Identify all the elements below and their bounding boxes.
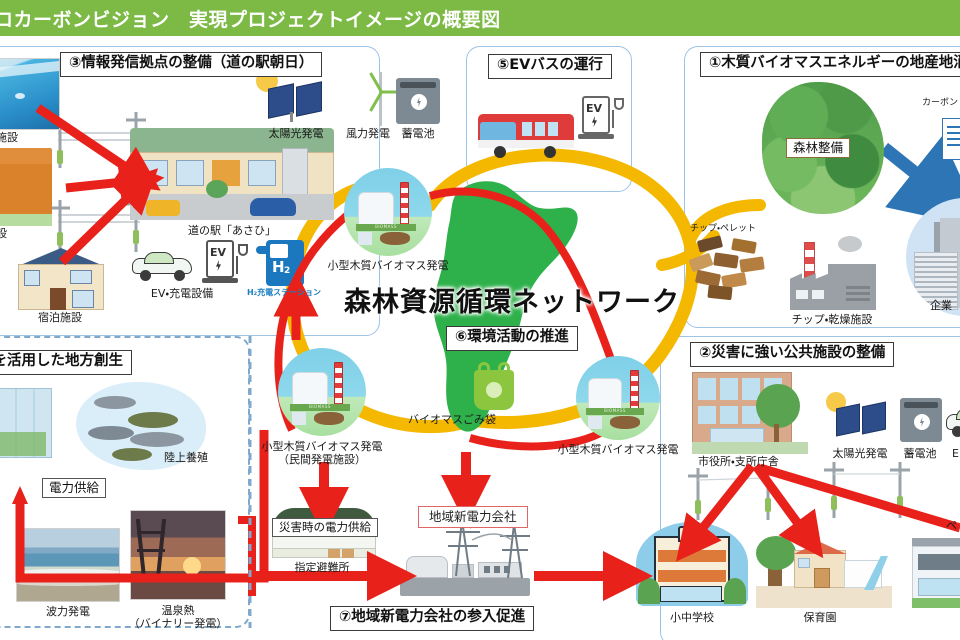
label-chip-drying: チップ・乾燥施設 — [792, 314, 873, 327]
h2-station-icon: H 2 — [256, 240, 310, 286]
photo-hotspring — [130, 510, 226, 600]
label-solar-right: 太陽光発電 — [833, 448, 888, 461]
illus-city-hall — [692, 372, 808, 454]
label-designated-shelter: 指定避難所 — [295, 562, 350, 575]
label-private-line2: （民間発電施設） — [278, 453, 366, 466]
illus-biomass-bag — [470, 360, 518, 412]
box-power-supply: 電力供給 — [42, 478, 106, 498]
label-h2-station: H₂充電ステーション — [247, 288, 321, 297]
label-lodging: 宿泊施設 — [38, 312, 82, 325]
illus-battery-right — [900, 398, 942, 444]
illus-solar-top — [262, 78, 324, 124]
label-company: 企業 — [930, 300, 952, 313]
label-battery-top: 蓄電池 — [402, 128, 435, 141]
label-hotspring: 温泉熱 （バイナリー発電） — [129, 604, 228, 630]
caption-section-3: ③情報発信拠点の整備（道の駅朝日） — [60, 52, 322, 77]
label-facility-cut-1: 施設 — [0, 132, 18, 145]
label-hotspring-line2: （バイナリー発電） — [129, 617, 228, 630]
illus-chip-pellet — [688, 238, 780, 300]
label-ev-charging: EV・充電設備 — [151, 288, 213, 301]
illus-ev-car-right — [944, 404, 960, 438]
label-ev-right: E — [952, 448, 959, 461]
illus-solar-right — [830, 398, 892, 442]
illus-lodging-house — [8, 248, 114, 310]
label-biomass-bag: バイオマスごみ袋 — [408, 414, 496, 427]
label-wave-power: 波力発電 — [46, 606, 90, 619]
page-title: ロカーボンビジョン 実現プロジェクトイメージの概要図 — [0, 5, 501, 32]
label-land-aquaculture: 陸上養殖 — [164, 452, 208, 465]
infographic-root: ロカーボンビジョン 実現プロジェクトイメージの概要図 ③情報発信拠点の整備（道の… — [0, 0, 960, 640]
label-private-line1: 小型木質バイオマス発電 — [262, 440, 383, 453]
illus-biomass-circle-top: BIOMASS — [344, 168, 432, 256]
illus-battery-top — [396, 78, 440, 126]
box-disaster-power-supply: 災害時の電力供給 — [272, 518, 378, 537]
photo-wave-power — [16, 528, 120, 602]
label-facility-cut-2: 設 — [0, 228, 7, 241]
center-title: 森林資源循環ネットワーク — [344, 280, 680, 319]
box-regional-power-company: 地域新電力会社 — [418, 506, 528, 528]
caption-section-4: ネ資源を活用した地方創生 — [0, 350, 132, 375]
ev-charger-icon-bus: EV — [580, 96, 626, 146]
page-title-bar: ロカーボンビジョン 実現プロジェクトイメージの概要図 — [0, 0, 960, 36]
illus-biomass-circle-private: BIOMASS — [278, 348, 366, 436]
caption-section-5: ⑤EVバスの運行 — [488, 54, 612, 79]
label-pellet-right: ペ — [946, 520, 957, 533]
caption-section-2: ②災害に強い公共施設の整備 — [690, 342, 894, 367]
illus-public-building-cut — [912, 538, 960, 608]
label-nursery: 保育園 — [804, 612, 837, 625]
illus-michinoeki — [130, 128, 334, 220]
illus-power-plant — [400, 548, 530, 606]
ev-charger-icon: EV — [202, 240, 250, 286]
illus-certificate-doc — [942, 118, 960, 160]
label-chip-pellet: チップ・ペレット — [690, 224, 756, 234]
label-city-hall: 市役所・支所庁舎 — [698, 456, 779, 469]
illus-ev-car — [130, 248, 194, 282]
label-small-biomass-top: 小型木質バイオマス発電 — [328, 260, 449, 273]
illus-orange-hall — [0, 148, 52, 226]
illus-nursery — [756, 538, 892, 608]
photo-pool-facility — [0, 58, 60, 130]
label-carbon-offset: カーボン — [922, 98, 958, 108]
caption-section-7: ⑦地域新電力会社の参入促進 — [330, 606, 534, 631]
caption-section-1: ①木質バイオマスエネルギーの地産地消 — [700, 52, 960, 77]
label-michinoeki: 道の駅「あさひ」 — [188, 225, 276, 238]
box-forest-maintenance: 森林整備 — [786, 138, 850, 158]
label-small-biomass-private: 小型木質バイオマス発電 （民間発電施設） — [262, 440, 383, 466]
label-solar-top: 太陽光発電 — [269, 128, 324, 141]
illus-school — [636, 522, 748, 612]
illus-greenhouse — [0, 388, 52, 458]
label-battery-right: 蓄電池 — [904, 448, 937, 461]
label-small-biomass-right: 小型木質バイオマス発電 — [558, 444, 679, 457]
caption-section-6: ⑥環境活動の推進 — [446, 326, 578, 351]
label-hotspring-line1: 温泉熱 — [162, 604, 195, 617]
illus-biomass-circle-right: BIOMASS — [576, 356, 660, 440]
illus-chip-factory — [790, 240, 876, 312]
illus-ev-bus — [478, 112, 574, 160]
label-school: 小中学校 — [670, 612, 714, 625]
label-wind-top: 風力発電 — [346, 128, 390, 141]
